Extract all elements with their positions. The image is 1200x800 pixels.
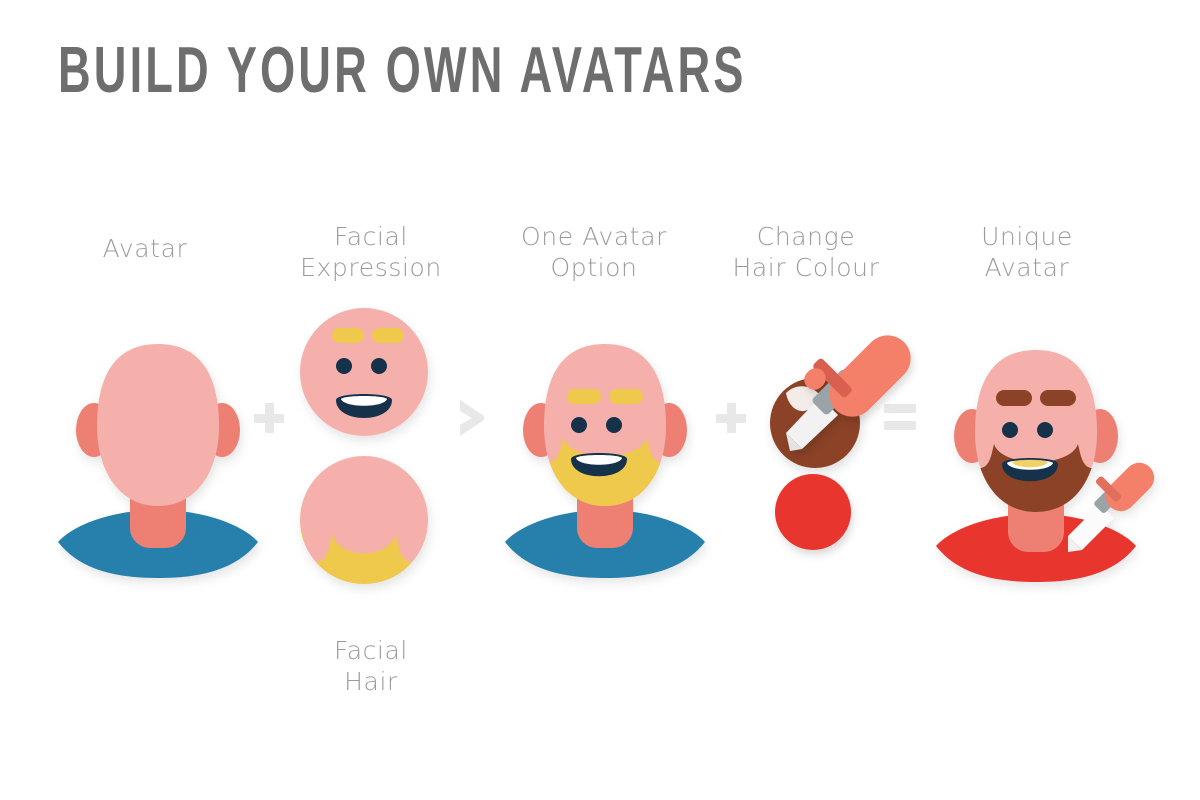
facial-hair-swatch[interactable] [296, 452, 446, 602]
combined-avatar-eye-right [606, 417, 622, 433]
avatar-builder-diagram: Avatar Facial Expression Facial Hair One… [0, 0, 1200, 800]
unique-avatar-eye-left [1002, 422, 1018, 438]
base-avatar[interactable] [50, 330, 265, 575]
label-facial-expression: Facial Expression [272, 221, 470, 283]
avatar-head [97, 344, 219, 506]
unique-avatar-eyebrow-right [1040, 390, 1076, 406]
label-facial-hair: Facial Hair [272, 635, 470, 697]
greater-than-operator [458, 398, 488, 438]
plus-operator-2 [716, 403, 746, 433]
eyebrow-left [332, 328, 364, 343]
combined-avatar-eyebrow-right [609, 389, 643, 404]
eye-left [336, 358, 352, 374]
eyedropper-and-swatches[interactable] [760, 275, 935, 565]
label-one-avatar-option: One Avatar Option [495, 221, 693, 283]
combined-avatar[interactable] [497, 330, 712, 575]
eyebrow-right [372, 328, 404, 343]
combined-avatar-eye-left [571, 417, 587, 433]
unique-avatar-eyebrow-left [996, 390, 1032, 406]
eye-right [371, 358, 387, 374]
label-avatar: Avatar [45, 233, 245, 264]
label-change-hair-colour: Change Hair Colour [707, 221, 905, 283]
label-unique-avatar: Unique Avatar [928, 221, 1126, 283]
red-swatch [775, 474, 851, 550]
face-expression-swatch[interactable] [296, 304, 446, 454]
unique-avatar[interactable] [928, 338, 1153, 583]
unique-avatar-eye-right [1037, 422, 1053, 438]
combined-avatar-eyebrow-left [567, 389, 601, 404]
